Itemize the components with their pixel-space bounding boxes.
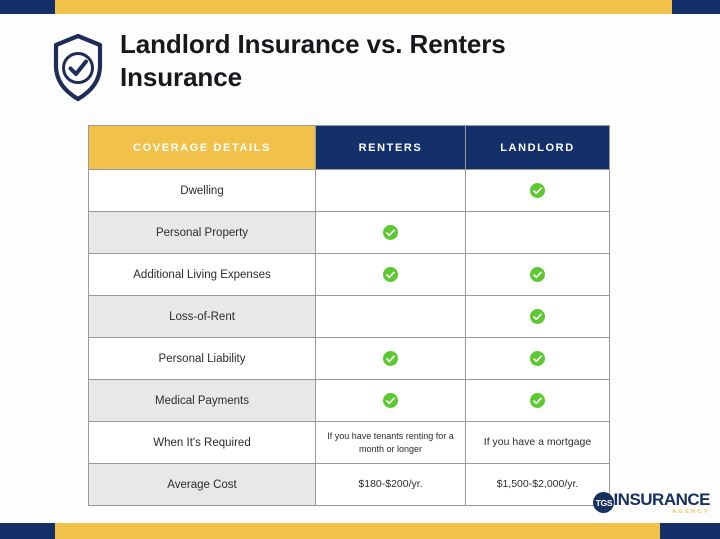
cell-landlord [466, 170, 610, 212]
logo-main-text: INSURANCE [613, 491, 710, 508]
column-header-coverage-details: COVERAGE DETAILS [89, 126, 316, 170]
table-row: Dwelling [89, 170, 610, 212]
comparison-table: COVERAGE DETAILS RENTERS LANDLORD Dwelli… [88, 125, 610, 506]
tgs-insurance-logo: TGS INSURANCE AGENCY [593, 491, 710, 516]
top-accent-bar [0, 0, 720, 14]
logo-wordmark: INSURANCE AGENCY [613, 491, 710, 516]
row-label: When It's Required [89, 422, 316, 464]
table-row: Personal Property [89, 212, 610, 254]
table-row: Loss-of-Rent [89, 296, 610, 338]
check-icon [383, 267, 398, 282]
row-label: Average Cost [89, 464, 316, 506]
cell-renters [316, 212, 466, 254]
bottom-bar-yellow [55, 523, 660, 539]
cell-landlord [466, 380, 610, 422]
row-label: Personal Property [89, 212, 316, 254]
cell-renters [316, 170, 466, 212]
bottom-accent-bar [0, 523, 720, 539]
cell-renters [316, 380, 466, 422]
column-header-renters: RENTERS [316, 126, 466, 170]
row-label: Loss-of-Rent [89, 296, 316, 338]
row-label: Dwelling [89, 170, 316, 212]
top-bar-navy-right [672, 0, 720, 14]
infographic-page: Landlord Insurance vs. Renters Insurance… [0, 0, 720, 539]
cell-landlord [466, 254, 610, 296]
table-row: Average Cost$180-$200/yr.$1,500-$2,000/y… [89, 464, 610, 506]
row-label: Additional Living Expenses [89, 254, 316, 296]
cell-renters [316, 338, 466, 380]
table-header-row: COVERAGE DETAILS RENTERS LANDLORD [89, 126, 610, 170]
check-icon [530, 393, 545, 408]
check-icon [383, 225, 398, 240]
logo-badge: TGS [593, 492, 614, 513]
row-label: Personal Liability [89, 338, 316, 380]
check-icon [383, 351, 398, 366]
cell-renters [316, 254, 466, 296]
logo-sub-text: AGENCY [613, 510, 710, 516]
cell-landlord [466, 338, 610, 380]
check-icon [530, 267, 545, 282]
table-row: Additional Living Expenses [89, 254, 610, 296]
cell-renters: If you have tenants renting for a month … [316, 422, 466, 464]
header: Landlord Insurance vs. Renters Insurance [50, 28, 650, 104]
cell-renters [316, 296, 466, 338]
page-title: Landlord Insurance vs. Renters Insurance [120, 28, 620, 95]
check-icon [530, 351, 545, 366]
top-bar-yellow [55, 0, 672, 14]
check-icon [530, 183, 545, 198]
bottom-bar-navy-right [660, 523, 720, 539]
bottom-bar-navy-left [0, 523, 55, 539]
table-row: Personal Liability [89, 338, 610, 380]
table-row: When It's RequiredIf you have tenants re… [89, 422, 610, 464]
cell-landlord: If you have a mortgage [466, 422, 610, 464]
shield-check-icon [50, 32, 106, 104]
table-row: Medical Payments [89, 380, 610, 422]
column-header-landlord: LANDLORD [466, 126, 610, 170]
table-body: DwellingPersonal PropertyAdditional Livi… [89, 170, 610, 506]
cell-landlord: $1,500-$2,000/yr. [466, 464, 610, 506]
check-icon [530, 309, 545, 324]
cell-landlord [466, 296, 610, 338]
cell-renters: $180-$200/yr. [316, 464, 466, 506]
top-bar-navy-left [0, 0, 55, 14]
cell-landlord [466, 212, 610, 254]
row-label: Medical Payments [89, 380, 316, 422]
check-icon [383, 393, 398, 408]
